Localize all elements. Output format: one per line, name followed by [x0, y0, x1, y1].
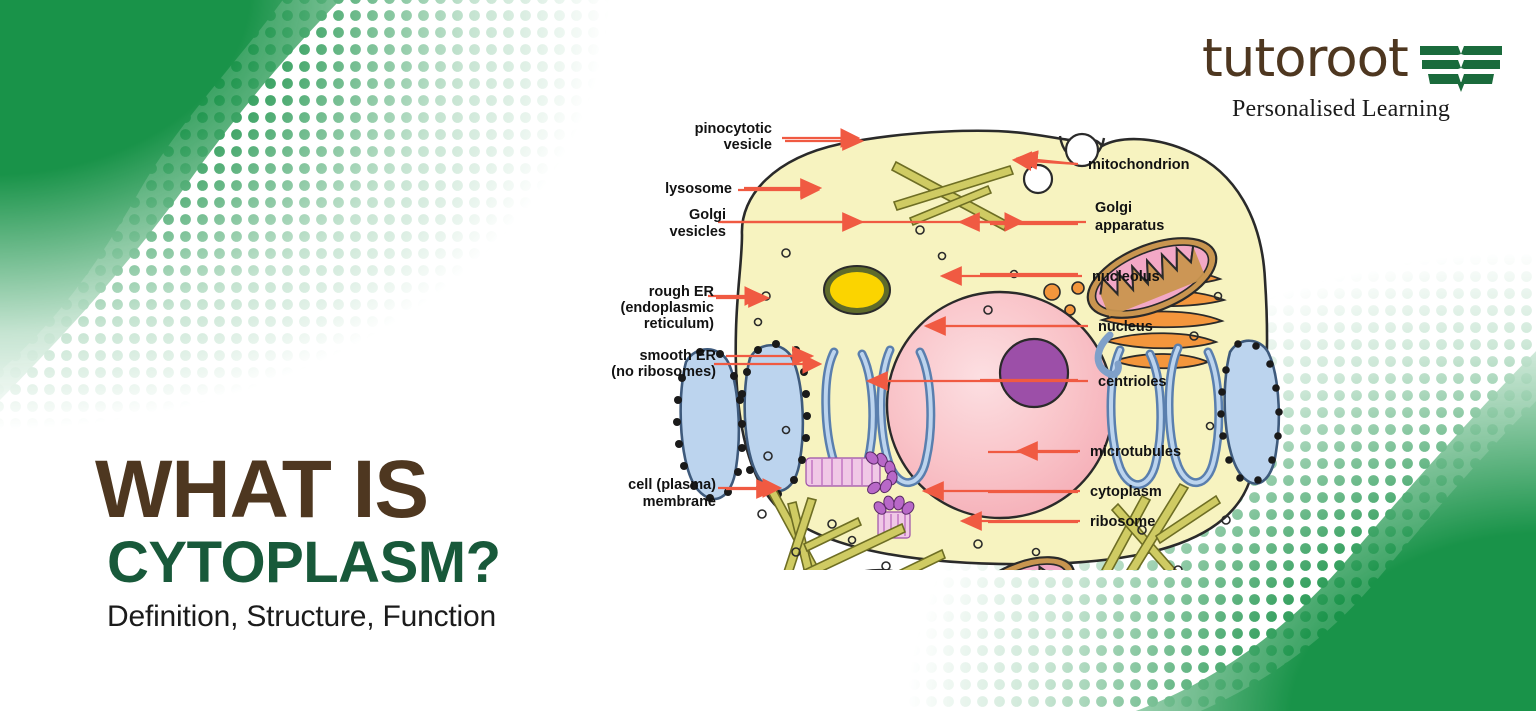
halftone-dots-corner-top-left	[0, 0, 610, 430]
poster-canvas: tutoroot Personalised Learning WHAT IS C…	[0, 0, 1536, 711]
headline-subtitle: Definition, Structure, Function	[107, 600, 615, 634]
headline-block: WHAT IS CYTOPLASM? Definition, Structure…	[95, 452, 615, 634]
lysosome-shape	[824, 266, 890, 314]
open-book-leaf-icon	[1418, 42, 1504, 94]
animal-cell-diagram	[590, 100, 1290, 570]
brand-name: tutoroot	[1202, 32, 1408, 85]
headline-line-2: CYTOPLASM?	[107, 533, 615, 594]
headline-line-1: WHAT IS	[95, 452, 615, 527]
nucleolus-shape	[1000, 339, 1068, 407]
